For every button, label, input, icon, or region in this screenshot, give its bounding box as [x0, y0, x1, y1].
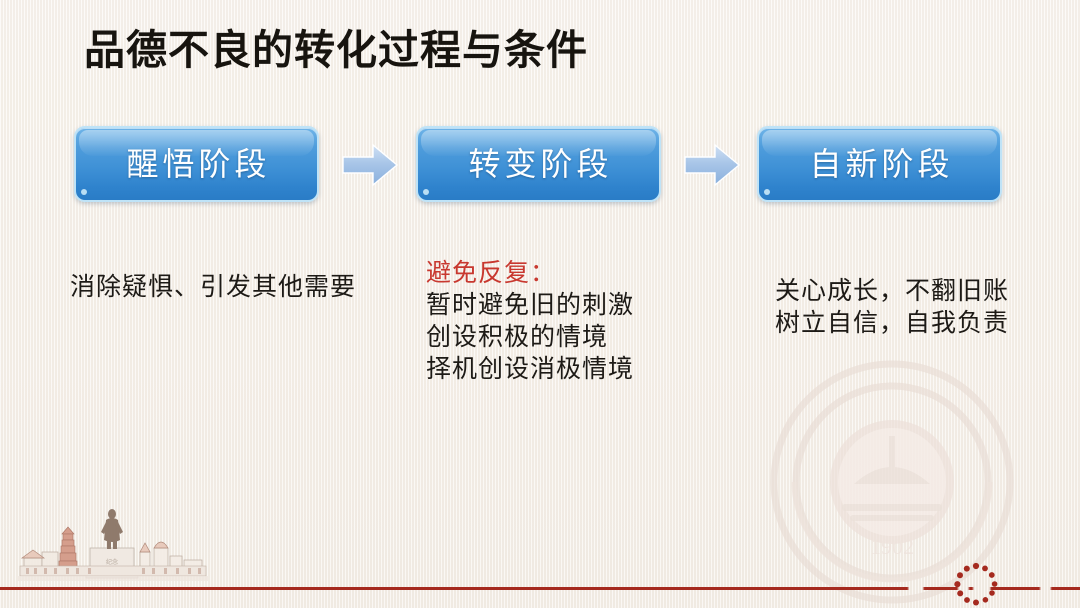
stage-box-transforming[interactable]: 转变阶段 — [416, 126, 661, 202]
text-line: 创设积极的情境 — [426, 322, 634, 354]
text-column-awakening: 消除疑惧、引发其他需要 — [70, 272, 356, 304]
text-line: 择机创设消极情境 — [426, 354, 634, 386]
stage-flow-row: 醒悟阶段 转变阶段 — [0, 126, 1080, 210]
text-line: 暂时避免旧的刺激 — [426, 290, 634, 322]
stage-box-awakening[interactable]: 醒悟阶段 — [74, 126, 319, 202]
page-title: 品德不良的转化过程与条件 — [84, 24, 588, 76]
arrow-right-icon — [683, 143, 741, 187]
text-line: 树立自信，自我负责 — [775, 308, 1009, 340]
svg-text:纪念: 纪念 — [106, 558, 118, 566]
text-line: 消除疑惧、引发其他需要 — [70, 272, 356, 304]
dotted-circle-ornament-icon — [952, 561, 1000, 608]
text-line: 关心成长，不翻旧账 — [775, 276, 1009, 308]
stage-label-awakening: 醒悟阶段 — [122, 146, 270, 182]
arrow-right-icon — [341, 143, 399, 187]
stage-label-transforming: 转变阶段 — [464, 146, 612, 182]
text-line-heading: 避免反复： — [426, 258, 634, 290]
slide-canvas: 1902 品德不良的转化过程与条件 醒悟阶段 转变阶段 — [0, 0, 1080, 608]
bottom-divider-line — [0, 587, 1080, 590]
text-column-transforming: 避免反复： 暂时避免旧的刺激 创设积极的情境 择机创设消极情境 — [426, 258, 634, 386]
campus-skyline-illustration-icon: 纪念 — [18, 500, 208, 588]
svg-text:1902: 1902 — [870, 534, 914, 559]
stage-label-renewal: 自新阶段 — [805, 146, 953, 182]
text-column-renewal: 关心成长，不翻旧账 树立自信，自我负责 — [775, 276, 1009, 340]
stage-box-renewal[interactable]: 自新阶段 — [757, 126, 1002, 202]
